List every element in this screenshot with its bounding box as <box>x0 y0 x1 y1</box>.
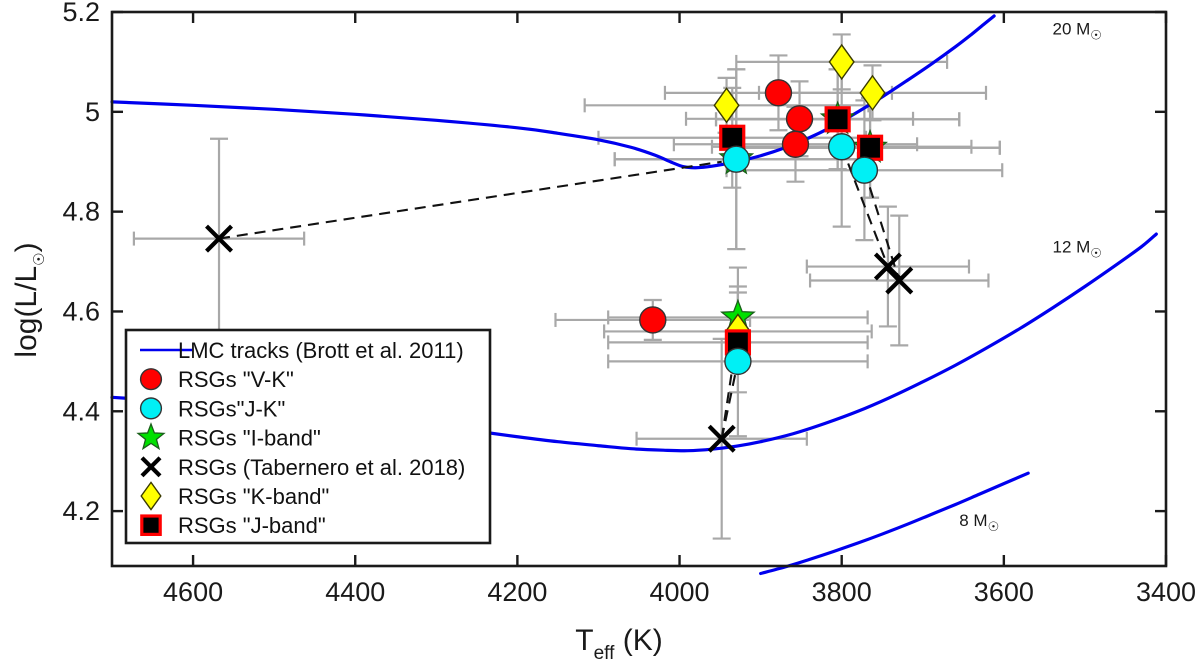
legend-item-label: RSGs (Tabernero et al. 2018) <box>178 455 465 480</box>
marker-circle <box>787 106 813 132</box>
marker-circle <box>723 146 749 172</box>
x-tick-label: 3800 <box>812 577 872 607</box>
marker-circle <box>141 398 162 419</box>
marker-circle <box>782 131 808 157</box>
marker-circle <box>141 369 162 390</box>
y-axis-title-main: log(L/L <box>10 266 43 358</box>
legend-item-label: RSGs"J-K" <box>178 396 285 421</box>
mass-annotation: 8 M☉ <box>959 511 999 534</box>
marker-square <box>721 126 744 149</box>
figure-root: 46004400420040003800360034005.254.84.64.… <box>0 0 1200 664</box>
x-axis-title-unit: (K) <box>614 624 662 657</box>
sun-symbol: ☉ <box>1090 27 1102 42</box>
y-axis-title-close: ) <box>10 242 43 252</box>
svg-text:log(L/L☉): log(L/L☉) <box>10 242 48 357</box>
legend-item-label: RSGs "V-K" <box>178 367 294 392</box>
connector-line <box>219 162 722 239</box>
legend-item[interactable]: RSGs (Tabernero et al. 2018) <box>142 455 465 480</box>
x-axis-title-main: T <box>575 624 593 657</box>
legend-item-label: RSGs "I-band" <box>178 426 321 451</box>
mass-annotation: 12 M☉ <box>1052 238 1101 261</box>
y-axis-title: log(L/L☉) <box>10 242 48 357</box>
legend: LMC tracks (Brott et al. 2011)RSGs "V-K"… <box>126 330 490 543</box>
x-axis-title-sub: eff <box>594 643 616 664</box>
x-axis-title: Teff (K) <box>575 624 662 664</box>
marker-circle <box>640 307 666 333</box>
y-tick-label: 4.8 <box>62 197 100 227</box>
mass-annotation-text: 8 M <box>959 511 987 530</box>
y-tick-label: 4.2 <box>62 496 100 526</box>
legend-item[interactable]: LMC tracks (Brott et al. 2011) <box>140 338 464 363</box>
y-tick-label: 4.6 <box>62 296 100 326</box>
y-tick-label: 5.2 <box>62 0 100 27</box>
marker-diamond <box>829 45 853 79</box>
marker-square <box>142 516 160 534</box>
x-tick-label: 4200 <box>487 577 547 607</box>
y-tick-label: 4.4 <box>62 396 100 426</box>
marker-circle <box>765 80 791 106</box>
legend-item-label: RSGs "J-band" <box>178 513 326 538</box>
sun-symbol: ☉ <box>988 519 1000 534</box>
legend-item-label: LMC tracks (Brott et al. 2011) <box>178 338 464 363</box>
scatter-plot: 46004400420040003800360034005.254.84.64.… <box>0 0 1200 664</box>
mass-annotation-text: 20 M <box>1052 19 1090 38</box>
legend-item-label: RSGs "K-band" <box>178 484 329 509</box>
y-axis-title-sub: ☉ <box>31 252 48 265</box>
marker-circle <box>829 134 855 160</box>
x-tick-label: 3400 <box>1136 577 1196 607</box>
x-tick-label: 4000 <box>649 577 709 607</box>
mass-annotation: 20 M☉ <box>1052 19 1101 42</box>
mass-annotations-layer: 20 M☉12 M☉8 M☉ <box>959 19 1102 534</box>
marker-square <box>859 136 882 159</box>
marker-square <box>826 108 849 131</box>
marker-circle <box>725 348 751 374</box>
sun-symbol: ☉ <box>1090 246 1102 261</box>
x-tick-label: 3600 <box>974 577 1034 607</box>
x-tick-label: 4600 <box>163 577 223 607</box>
y-tick-label: 5 <box>85 97 100 127</box>
mass-annotation-text: 12 M <box>1052 238 1090 257</box>
marker-circle <box>851 157 877 183</box>
x-tick-label: 4400 <box>325 577 385 607</box>
